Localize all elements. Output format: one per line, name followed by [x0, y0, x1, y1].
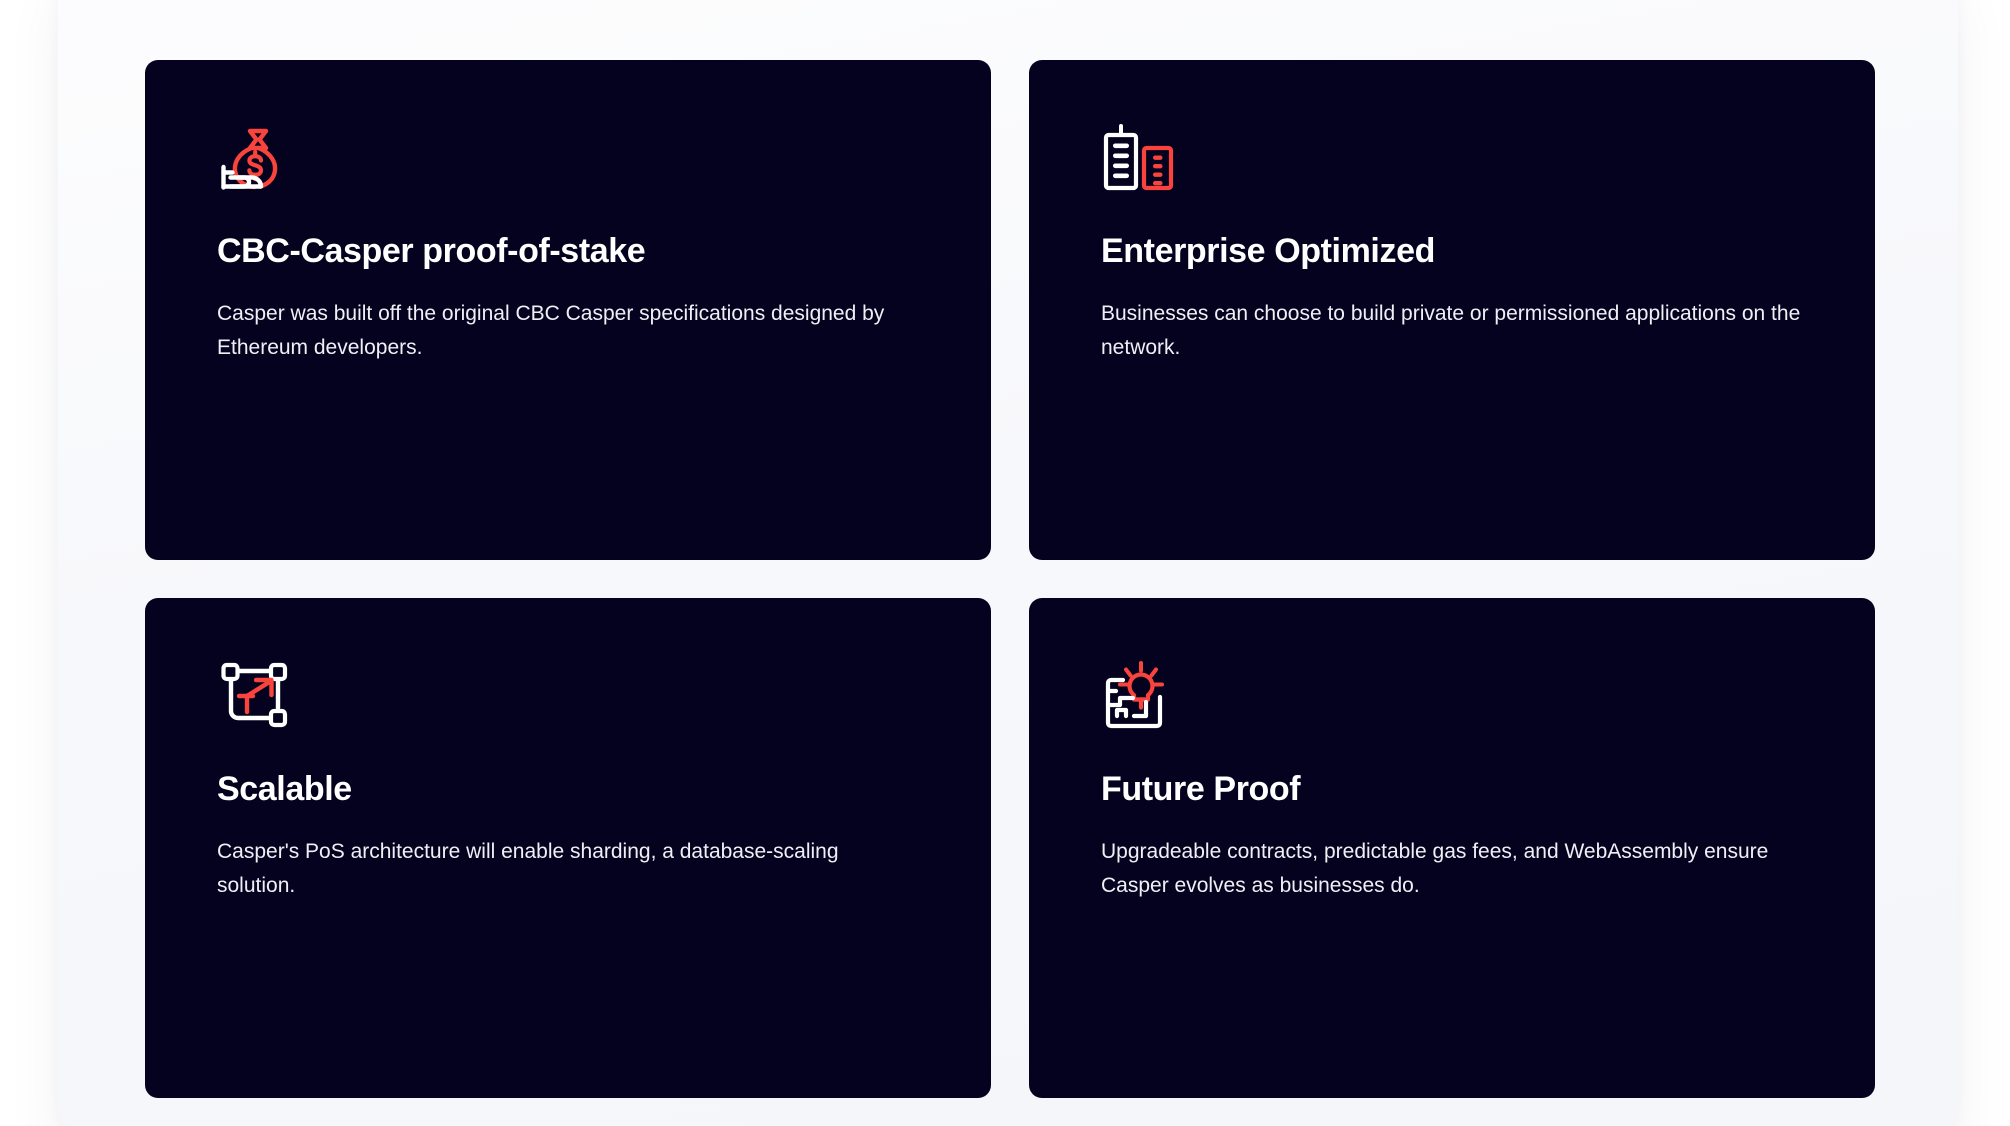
feature-card-title: CBC-Casper proof-of-stake	[217, 232, 919, 271]
feature-card-enterprise-optimized[interactable]: Enterprise Optimized Businesses can choo…	[1029, 60, 1875, 560]
feature-card-body: Businesses can choose to build private o…	[1101, 297, 1801, 365]
feature-card-body: Casper was built off the original CBC Ca…	[217, 297, 917, 365]
feature-card-title: Scalable	[217, 770, 919, 809]
feature-card-title: Enterprise Optimized	[1101, 232, 1803, 271]
page-root: CBC-Casper proof-of-stake Casper was bui…	[0, 0, 2010, 1126]
feature-card-body: Casper's PoS architecture will enable sh…	[217, 835, 917, 903]
feature-card-body: Upgradeable contracts, predictable gas f…	[1101, 835, 1801, 903]
feature-card-future-proof[interactable]: Future Proof Upgradeable contracts, pred…	[1029, 598, 1875, 1098]
scale-arrow-icon	[217, 660, 293, 736]
money-bag-icon	[217, 122, 293, 198]
feature-card-grid: CBC-Casper proof-of-stake Casper was bui…	[145, 60, 1875, 1098]
feature-card-cbc-casper[interactable]: CBC-Casper proof-of-stake Casper was bui…	[145, 60, 991, 560]
office-buildings-icon	[1101, 122, 1177, 198]
feature-card-scalable[interactable]: Scalable Casper's PoS architecture will …	[145, 598, 991, 1098]
feature-card-title: Future Proof	[1101, 770, 1803, 809]
lightbulb-circuit-icon	[1101, 660, 1177, 736]
